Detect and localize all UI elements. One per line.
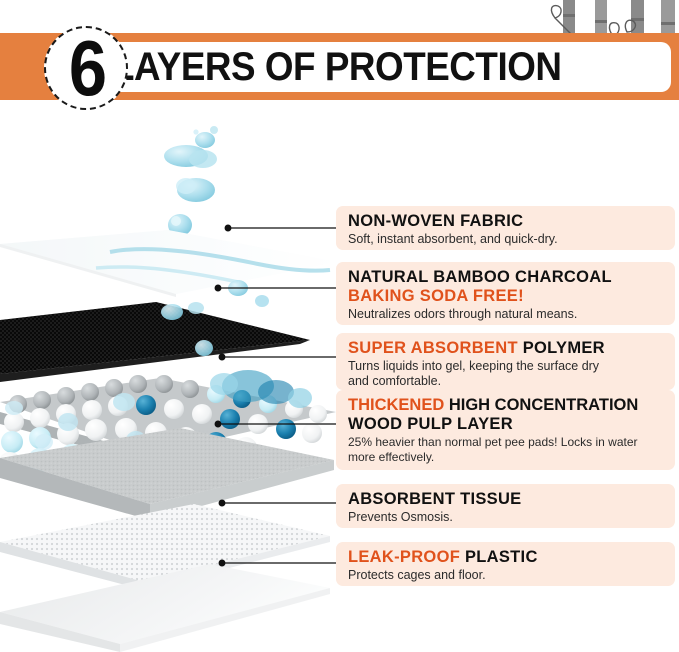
label-title-rest: PLASTIC: [460, 548, 538, 566]
label-leak-proof-plastic[interactable]: LEAK-PROOF PLASTIC Protects cages and fl…: [336, 542, 675, 586]
label-title-super-absorbent-polymer: SUPER ABSORBENT POLYMER: [348, 339, 675, 358]
label-subtitle-leak-proof-plastic: Protects cages and floor.: [348, 568, 675, 583]
label-wood-pulp-layer[interactable]: THICKENED HIGH CONCENTRATION WOOD PULP L…: [336, 390, 675, 470]
layer-labels-panel: NON-WOVEN FABRIC Soft, instant absorbent…: [336, 0, 679, 652]
label-title2-bamboo-charcoal: BAKING SODA FREE!: [348, 287, 675, 306]
layer-bamboo-charcoal: [0, 302, 310, 382]
label-title2-wood-pulp-layer: WOOD PULP LAYER: [348, 415, 675, 434]
label-subtitle-line2-wood-pulp: more effectively.: [348, 450, 675, 465]
label-title-rest: POLYMER: [518, 339, 605, 357]
label-title-wood-pulp-layer: THICKENED HIGH CONCENTRATION: [348, 396, 675, 415]
label-title-highlight: THICKENED: [348, 396, 444, 414]
layer-count-number: 6: [51, 28, 125, 112]
label-subtitle-line1-polymer: Turns liquids into gel, keeping the surf…: [348, 359, 675, 374]
label-title-highlight: SUPER ABSORBENT: [348, 339, 518, 357]
label-subtitle-line2-polymer: and comfortable.: [348, 374, 675, 389]
label-non-woven-fabric[interactable]: NON-WOVEN FABRIC Soft, instant absorbent…: [336, 206, 675, 250]
label-title-absorbent-tissue: ABSORBENT TISSUE: [348, 490, 675, 509]
label-subtitle-absorbent-tissue: Prevents Osmosis.: [348, 510, 675, 525]
label-title-highlight: LEAK-PROOF: [348, 548, 460, 566]
layer-stack-illustration: [0, 112, 340, 652]
label-absorbent-tissue[interactable]: ABSORBENT TISSUE Prevents Osmosis.: [336, 484, 675, 528]
layer-count-badge: 6: [44, 26, 128, 110]
label-super-absorbent-polymer[interactable]: SUPER ABSORBENT POLYMER Turns liquids in…: [336, 333, 675, 390]
layer-leak-proof-plastic: [0, 564, 330, 652]
label-title-leak-proof-plastic: LEAK-PROOF PLASTIC: [348, 548, 675, 567]
label-subtitle-line1-wood-pulp: 25% heavier than normal pet pee pads! Lo…: [348, 435, 675, 450]
label-title-rest: HIGH CONCENTRATION: [444, 396, 638, 414]
label-title-bamboo-charcoal: NATURAL BAMBOO CHARCOAL: [348, 268, 675, 287]
label-subtitle-bamboo-charcoal: Neutralizes odors through natural means.: [348, 307, 675, 322]
label-title-non-woven-fabric: NON-WOVEN FABRIC: [348, 212, 675, 231]
water-droplets: [164, 126, 218, 236]
label-subtitle-non-woven-fabric: Soft, instant absorbent, and quick-dry.: [348, 232, 675, 247]
layer-non-woven-fabric: [0, 230, 338, 307]
label-bamboo-charcoal[interactable]: NATURAL BAMBOO CHARCOAL BAKING SODA FREE…: [336, 262, 675, 325]
